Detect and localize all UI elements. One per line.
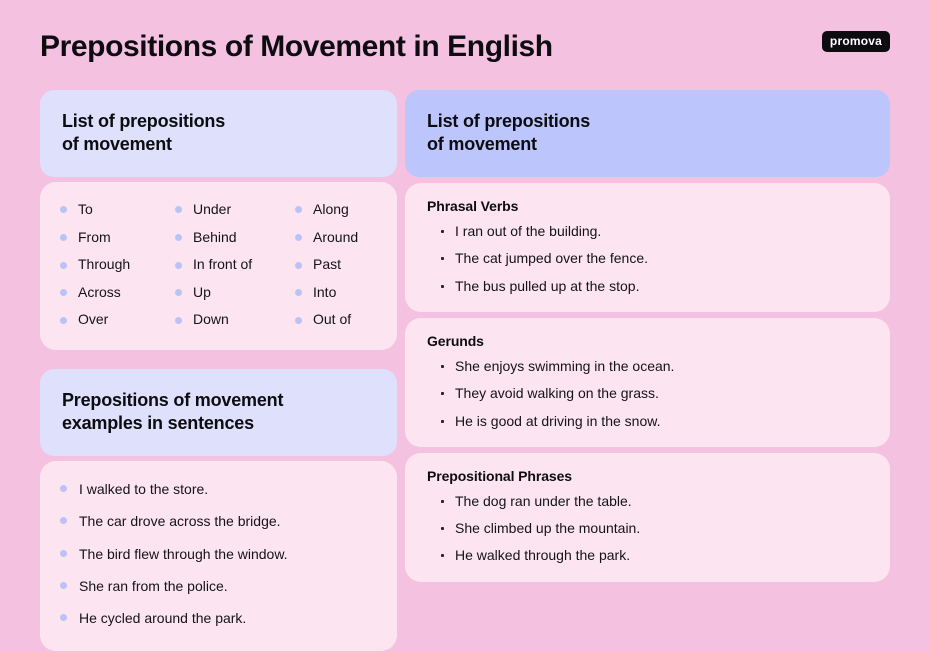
bullet-square-icon xyxy=(441,365,444,368)
group-item-text: The dog ran under the table. xyxy=(455,491,632,511)
bullet-dot-icon xyxy=(175,289,182,296)
left-examples-heading-line1: Prepositions of movement xyxy=(62,389,375,412)
bullet-square-icon xyxy=(441,285,444,288)
bullet-dot-icon xyxy=(60,517,67,524)
preposition-item: Into xyxy=(295,283,377,303)
group-title: Prepositional Phrases xyxy=(427,468,868,484)
preposition-item: Over xyxy=(60,310,175,330)
group-list-item: I ran out of the building. xyxy=(427,221,868,241)
group-item-text: He is good at driving in the snow. xyxy=(455,411,660,431)
preposition-item: Through xyxy=(60,255,175,275)
page-title: Prepositions of Movement in English xyxy=(40,30,553,64)
bullet-dot-icon xyxy=(175,317,182,324)
preposition-item: Under xyxy=(175,200,295,220)
left-column: List of prepositions of movement To Unde… xyxy=(40,90,397,651)
left-list-section-header: List of prepositions of movement xyxy=(40,90,397,177)
preposition-label: Through xyxy=(78,255,130,275)
left-examples-section-header: Prepositions of movement examples in sen… xyxy=(40,369,397,456)
bullet-dot-icon xyxy=(60,550,67,557)
example-sentence-item: She ran from the police. xyxy=(60,576,377,596)
bullet-dot-icon xyxy=(295,289,302,296)
example-sentence-item: The bird flew through the window. xyxy=(60,544,377,564)
preposition-label: Out of xyxy=(313,310,351,330)
preposition-item: Up xyxy=(175,283,295,303)
example-sentence-text: The car drove across the bridge. xyxy=(79,511,281,531)
preposition-label: Behind xyxy=(193,228,237,248)
bullet-dot-icon xyxy=(175,206,182,213)
group-item-text: The cat jumped over the fence. xyxy=(455,248,648,268)
infographic-page: Prepositions of Movement in English prom… xyxy=(0,0,930,620)
example-sentence-item: The car drove across the bridge. xyxy=(60,511,377,531)
group-list-item: They avoid walking on the grass. xyxy=(427,383,868,403)
example-sentence-item: He cycled around the park. xyxy=(60,608,377,628)
group-list-item: She climbed up the mountain. xyxy=(427,518,868,538)
example-sentences-card: I walked to the store. The car drove acr… xyxy=(40,461,397,650)
group-item-list: The dog ran under the table. She climbed… xyxy=(427,491,868,566)
preposition-label: Up xyxy=(193,283,211,303)
group-list-item: He walked through the park. xyxy=(427,545,868,565)
bullet-dot-icon xyxy=(60,262,67,269)
bullet-dot-icon xyxy=(295,206,302,213)
group-item-text: They avoid walking on the grass. xyxy=(455,383,659,403)
right-section-header: List of prepositions of movement xyxy=(405,90,890,177)
preposition-label: Into xyxy=(313,283,336,303)
bullet-dot-icon xyxy=(295,262,302,269)
group-item-list: She enjoys swimming in the ocean. They a… xyxy=(427,356,868,431)
group-list-item: He is good at driving in the snow. xyxy=(427,411,868,431)
example-sentence-text: She ran from the police. xyxy=(79,576,228,596)
preposition-item: Past xyxy=(295,255,377,275)
right-heading-line1: List of prepositions xyxy=(427,110,868,133)
preposition-label: Across xyxy=(78,283,121,303)
preposition-item: Out of xyxy=(295,310,377,330)
bullet-dot-icon xyxy=(60,289,67,296)
group-item-text: I ran out of the building. xyxy=(455,221,601,241)
bullet-dot-icon xyxy=(60,234,67,241)
preposition-item: In front of xyxy=(175,255,295,275)
group-title: Gerunds xyxy=(427,333,868,349)
preposition-item: Around xyxy=(295,228,377,248)
bullet-square-icon xyxy=(441,527,444,530)
preposition-label: Past xyxy=(313,255,341,275)
preposition-item: Across xyxy=(60,283,175,303)
left-examples-heading-line2: examples in sentences xyxy=(62,412,375,435)
bullet-dot-icon xyxy=(175,262,182,269)
example-sentence-text: The bird flew through the window. xyxy=(79,544,288,564)
group-list-item: She enjoys swimming in the ocean. xyxy=(427,356,868,376)
preposition-label: Around xyxy=(313,228,358,248)
bullet-dot-icon xyxy=(60,317,67,324)
group-list-item: The bus pulled up at the stop. xyxy=(427,276,868,296)
bullet-square-icon xyxy=(441,500,444,503)
bullet-square-icon xyxy=(441,230,444,233)
preposition-item: From xyxy=(60,228,175,248)
group-card-prepositional-phrases: Prepositional Phrases The dog ran under … xyxy=(405,453,890,582)
bullet-dot-icon xyxy=(60,614,67,621)
preposition-label: In front of xyxy=(193,255,252,275)
prepositions-grid: To Under Along From Behind Around Throug… xyxy=(40,182,397,350)
group-item-text: The bus pulled up at the stop. xyxy=(455,276,639,296)
bullet-dot-icon xyxy=(295,234,302,241)
group-item-text: She climbed up the mountain. xyxy=(455,518,640,538)
bullet-dot-icon xyxy=(295,317,302,324)
preposition-item: Down xyxy=(175,310,295,330)
bullet-dot-icon xyxy=(60,582,67,589)
group-item-text: She enjoys swimming in the ocean. xyxy=(455,356,674,376)
promova-logo: promova xyxy=(822,31,890,52)
group-list-item: The dog ran under the table. xyxy=(427,491,868,511)
group-item-text: He walked through the park. xyxy=(455,545,630,565)
bullet-dot-icon xyxy=(175,234,182,241)
preposition-label: Along xyxy=(313,200,349,220)
bullet-square-icon xyxy=(441,257,444,260)
preposition-label: Down xyxy=(193,310,229,330)
example-sentence-text: I walked to the store. xyxy=(79,479,208,499)
right-heading-line2: of movement xyxy=(427,133,868,156)
bullet-dot-icon xyxy=(60,206,67,213)
example-sentence-text: He cycled around the park. xyxy=(79,608,246,628)
group-card-gerunds: Gerunds She enjoys swimming in the ocean… xyxy=(405,318,890,447)
bullet-dot-icon xyxy=(60,485,67,492)
group-list-item: The cat jumped over the fence. xyxy=(427,248,868,268)
left-list-heading-line1: List of prepositions xyxy=(62,110,375,133)
bullet-square-icon xyxy=(441,392,444,395)
preposition-label: From xyxy=(78,228,111,248)
preposition-item: To xyxy=(60,200,175,220)
preposition-label: To xyxy=(78,200,93,220)
left-list-heading-line2: of movement xyxy=(62,133,375,156)
example-sentence-item: I walked to the store. xyxy=(60,479,377,499)
bullet-square-icon xyxy=(441,554,444,557)
group-item-list: I ran out of the building. The cat jumpe… xyxy=(427,221,868,296)
group-card-phrasal-verbs: Phrasal Verbs I ran out of the building.… xyxy=(405,183,890,312)
preposition-label: Over xyxy=(78,310,108,330)
preposition-item: Behind xyxy=(175,228,295,248)
preposition-label: Under xyxy=(193,200,231,220)
bullet-square-icon xyxy=(441,420,444,423)
preposition-item: Along xyxy=(295,200,377,220)
right-column: List of prepositions of movement Phrasal… xyxy=(405,90,890,582)
group-title: Phrasal Verbs xyxy=(427,198,868,214)
